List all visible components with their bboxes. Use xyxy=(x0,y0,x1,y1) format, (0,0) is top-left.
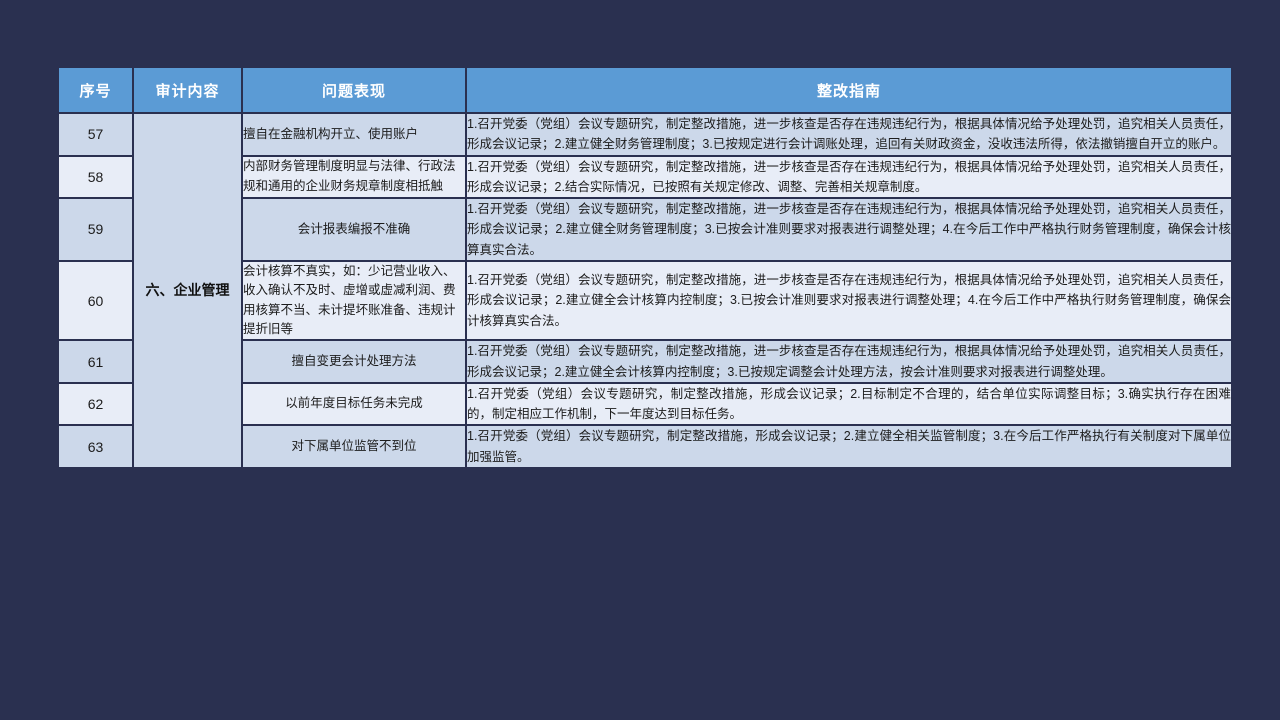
cell-sequence-number: 59 xyxy=(59,199,132,260)
cell-rectification-guidance: 1.召开党委（党组）会议专题研究，制定整改措施，进一步核查是否存在违规违纪行为，… xyxy=(467,262,1231,340)
cell-issue-description: 会计报表编报不准确 xyxy=(243,199,465,260)
header-cell-seq: 序号 xyxy=(59,68,132,112)
cell-sequence-number: 62 xyxy=(59,384,132,425)
slide-canvas: 序号 审计内容 问题表现 整改指南 57六、企业管理擅自在金融机构开立、使用账户… xyxy=(0,0,1280,720)
header-cell-audit: 审计内容 xyxy=(134,68,241,112)
cell-rectification-guidance: 1.召开党委（党组）会议专题研究，制定整改措施，形成会议记录；2.目标制定不合理… xyxy=(467,384,1231,425)
cell-sequence-number: 58 xyxy=(59,157,132,198)
cell-sequence-number: 61 xyxy=(59,341,132,382)
cell-issue-description: 擅自变更会计处理方法 xyxy=(243,341,465,382)
cell-audit-category: 六、企业管理 xyxy=(134,114,241,467)
audit-rectification-table: 序号 审计内容 问题表现 整改指南 57六、企业管理擅自在金融机构开立、使用账户… xyxy=(57,66,1233,469)
header-row: 序号 审计内容 问题表现 整改指南 xyxy=(59,68,1231,112)
cell-rectification-guidance: 1.召开党委（党组）会议专题研究，制定整改措施，形成会议记录；2.建立健全相关监… xyxy=(467,426,1231,467)
cell-issue-description: 以前年度目标任务未完成 xyxy=(243,384,465,425)
table-body: 57六、企业管理擅自在金融机构开立、使用账户1.召开党委（党组）会议专题研究，制… xyxy=(59,114,1231,467)
cell-rectification-guidance: 1.召开党委（党组）会议专题研究，制定整改措施，进一步核查是否存在违规违纪行为，… xyxy=(467,157,1231,198)
header-cell-guidance: 整改指南 xyxy=(467,68,1231,112)
cell-issue-description: 擅自在金融机构开立、使用账户 xyxy=(243,114,465,155)
table-row: 57六、企业管理擅自在金融机构开立、使用账户1.召开党委（党组）会议专题研究，制… xyxy=(59,114,1231,155)
cell-issue-description: 内部财务管理制度明显与法律、行政法规和通用的企业财务规章制度相抵触 xyxy=(243,157,465,198)
cell-sequence-number: 57 xyxy=(59,114,132,155)
cell-rectification-guidance: 1.召开党委（党组）会议专题研究，制定整改措施，进一步核查是否存在违规违纪行为，… xyxy=(467,114,1231,155)
cell-rectification-guidance: 1.召开党委（党组）会议专题研究，制定整改措施，进一步核查是否存在违规违纪行为，… xyxy=(467,341,1231,382)
cell-issue-description: 对下属单位监管不到位 xyxy=(243,426,465,467)
table-container: 序号 审计内容 问题表现 整改指南 57六、企业管理擅自在金融机构开立、使用账户… xyxy=(57,66,1223,469)
header-cell-issue: 问题表现 xyxy=(243,68,465,112)
cell-issue-description: 会计核算不真实，如：少记营业收入、收入确认不及时、虚增或虚减利润、费用核算不当、… xyxy=(243,262,465,340)
cell-rectification-guidance: 1.召开党委（党组）会议专题研究，制定整改措施，进一步核查是否存在违规违纪行为，… xyxy=(467,199,1231,260)
cell-sequence-number: 63 xyxy=(59,426,132,467)
table-header: 序号 审计内容 问题表现 整改指南 xyxy=(59,68,1231,112)
cell-sequence-number: 60 xyxy=(59,262,132,340)
